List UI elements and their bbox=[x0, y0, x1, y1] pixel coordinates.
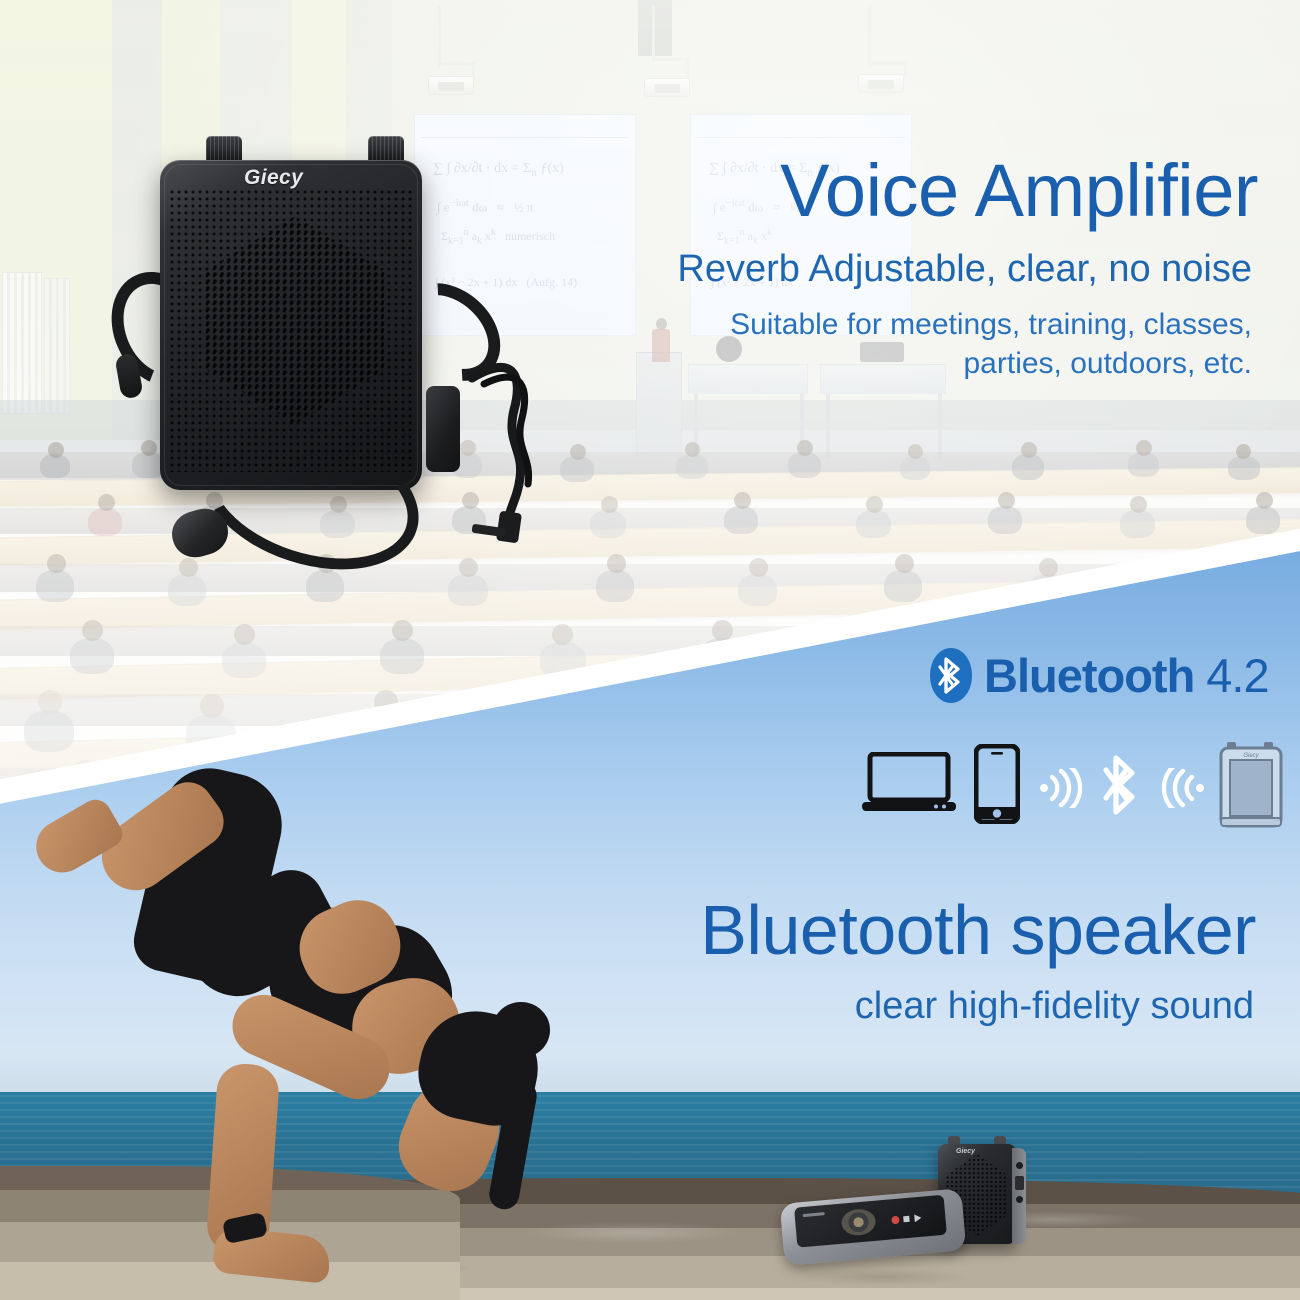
projector-arm bbox=[686, 58, 689, 78]
bluetooth-badge: Bluetooth 4.2 bbox=[930, 648, 1269, 703]
volume-knob[interactable] bbox=[206, 136, 242, 162]
subtitle-reverb: Reverb Adjustable, clear, no noise bbox=[677, 248, 1252, 291]
reverb-knob[interactable] bbox=[368, 136, 404, 162]
student bbox=[1120, 510, 1155, 538]
student-head bbox=[734, 492, 751, 509]
bluetooth-version: 4.2 bbox=[1206, 648, 1268, 703]
device-chain-icons: Giecy bbox=[862, 740, 1282, 832]
voice-amplifier-product: Giecy bbox=[120, 128, 580, 598]
student bbox=[856, 510, 891, 538]
student-head bbox=[866, 496, 883, 513]
projector-arm bbox=[868, 6, 871, 66]
student bbox=[596, 570, 634, 602]
features-line-2: parties, outdoors, etc. bbox=[730, 344, 1252, 383]
student-head bbox=[1136, 440, 1152, 456]
radiator bbox=[2, 272, 42, 414]
student-head bbox=[1130, 496, 1147, 513]
student-head bbox=[607, 554, 626, 573]
projector bbox=[858, 74, 904, 93]
screen-equation: Σk=1n ak xk bbox=[717, 227, 772, 246]
student-head bbox=[552, 624, 573, 645]
bluetooth-glyph-icon bbox=[1100, 752, 1146, 825]
student-head bbox=[908, 444, 923, 459]
bluetooth-logo-icon bbox=[930, 648, 972, 703]
student bbox=[380, 638, 424, 674]
student-head bbox=[38, 690, 62, 714]
brand-logo: Giecy bbox=[244, 166, 303, 190]
student-head bbox=[712, 620, 733, 641]
student bbox=[1228, 456, 1260, 480]
student-head bbox=[392, 620, 413, 641]
headline-voice-amplifier: Voice Amplifier bbox=[780, 148, 1258, 233]
lecturer bbox=[652, 318, 670, 362]
student-head bbox=[1039, 558, 1058, 577]
amp-port bbox=[1016, 1196, 1023, 1203]
projector-arm bbox=[868, 62, 906, 65]
subtitle-hifi: clear high-fidelity sound bbox=[855, 985, 1254, 1028]
laptop-icon bbox=[862, 752, 956, 821]
student-head bbox=[895, 554, 914, 573]
svg-text:Giecy: Giecy bbox=[1243, 753, 1259, 759]
student-head bbox=[48, 442, 64, 458]
student bbox=[724, 506, 758, 534]
student-head bbox=[601, 496, 618, 513]
student bbox=[222, 642, 266, 678]
student-head bbox=[234, 624, 255, 645]
student-head bbox=[685, 442, 700, 457]
amp-port bbox=[1016, 1162, 1023, 1169]
projector-arm bbox=[652, 6, 655, 62]
speaker-icon: Giecy bbox=[1218, 740, 1284, 835]
product-marketing-banner: ∑ ∫ ∂x/∂t · dx = Σn ƒ(x) ∫ e−iωt dω ≈ ½ … bbox=[0, 0, 1300, 1300]
student-head bbox=[797, 440, 813, 456]
student bbox=[738, 574, 777, 606]
signal-waves-right-icon bbox=[1162, 768, 1206, 813]
headline-bluetooth-speaker: Bluetooth speaker bbox=[700, 890, 1256, 970]
smartphone-icon bbox=[974, 744, 1020, 829]
features-line-1: Suitable for meetings, training, classes… bbox=[730, 305, 1252, 344]
student bbox=[70, 638, 114, 674]
bluetooth-wordmark: Bluetooth bbox=[984, 648, 1194, 703]
features-text: Suitable for meetings, training, classes… bbox=[730, 305, 1252, 383]
student bbox=[590, 510, 626, 538]
projector-arm bbox=[652, 58, 688, 61]
amp-brand-label: Giecy bbox=[956, 1148, 975, 1155]
student-head bbox=[98, 494, 115, 511]
yoga-handstand-figure bbox=[0, 780, 660, 1300]
student-head bbox=[47, 554, 66, 573]
student bbox=[88, 508, 122, 536]
podium bbox=[636, 352, 682, 456]
student bbox=[988, 506, 1022, 534]
student-head bbox=[82, 620, 103, 641]
student bbox=[884, 570, 922, 602]
lecturer-body bbox=[652, 329, 670, 362]
figure-hair-bun bbox=[492, 1002, 550, 1058]
student bbox=[676, 454, 708, 479]
projector-arm bbox=[438, 62, 474, 65]
student-head bbox=[1256, 492, 1273, 509]
student-head bbox=[998, 492, 1015, 509]
student bbox=[36, 570, 74, 602]
amp-port bbox=[1015, 1176, 1024, 1190]
bench-leg bbox=[938, 394, 942, 458]
radiator bbox=[44, 278, 70, 414]
student bbox=[900, 456, 930, 480]
screen-header bbox=[697, 125, 905, 138]
projector-arm bbox=[438, 6, 441, 68]
student-head bbox=[1021, 442, 1037, 458]
signal-waves-left-icon bbox=[1038, 768, 1082, 813]
student-head bbox=[749, 558, 768, 577]
projector bbox=[428, 76, 474, 95]
student-head bbox=[200, 694, 224, 718]
ceiling-duct bbox=[638, 0, 672, 56]
stop-button-icon[interactable] bbox=[903, 1216, 910, 1223]
projector bbox=[644, 78, 690, 97]
projector-arm bbox=[904, 62, 907, 78]
bench-leg bbox=[826, 394, 830, 458]
student-head bbox=[1236, 444, 1251, 459]
student bbox=[1246, 506, 1280, 534]
student bbox=[24, 710, 74, 752]
